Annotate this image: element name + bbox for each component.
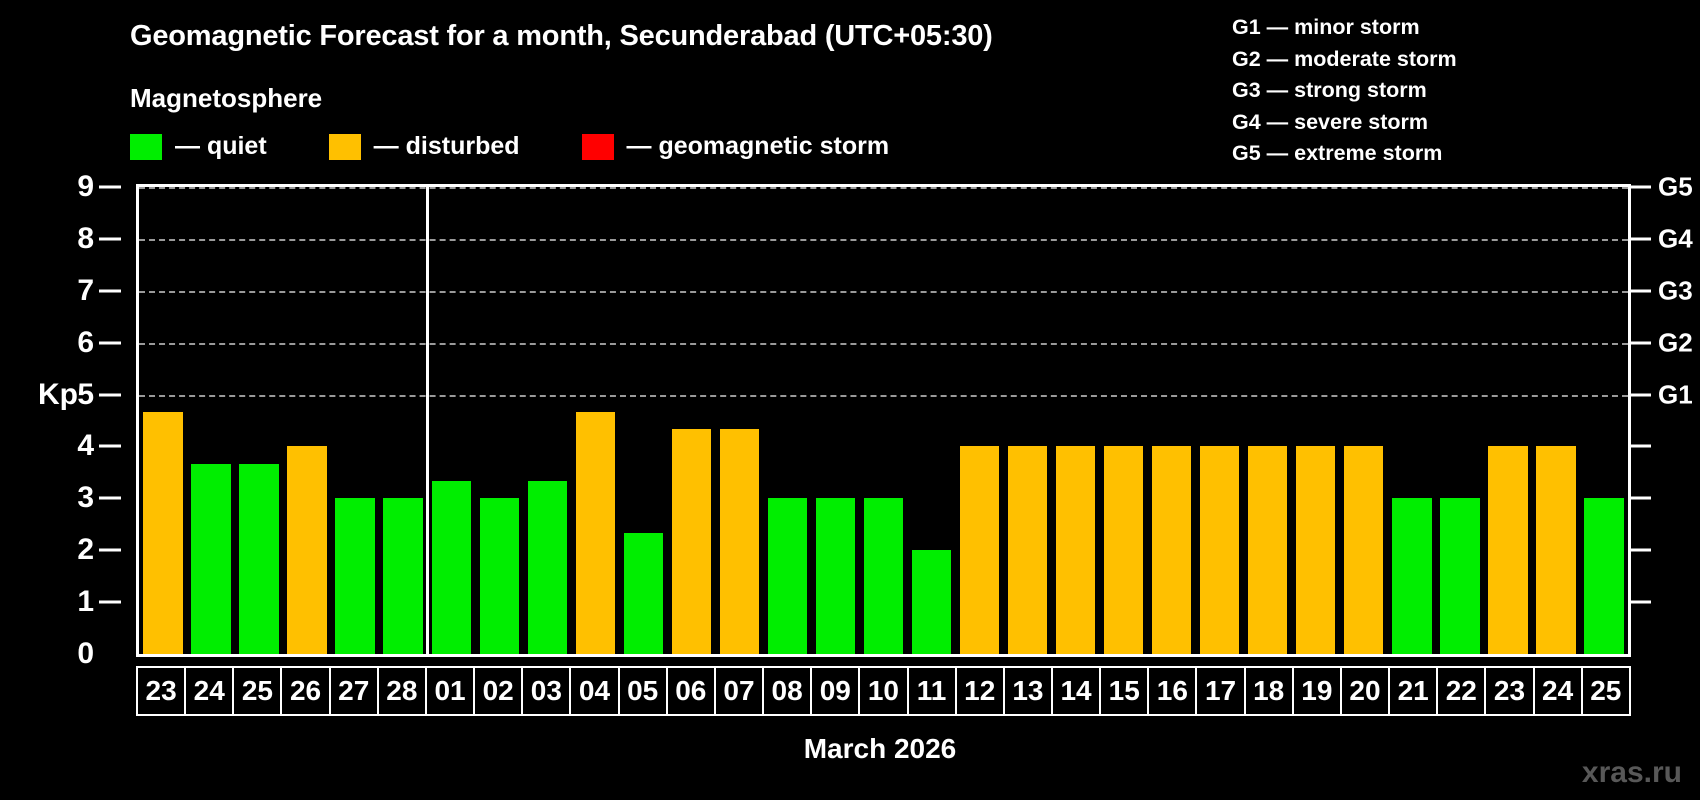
y-tick-mark-8 [99, 237, 121, 240]
date-cell[interactable]: 09 [812, 668, 860, 714]
bar-11[interactable] [912, 550, 951, 654]
y-tick-mark-2 [99, 549, 121, 552]
bar-slot [235, 187, 283, 654]
date-cell[interactable]: 26 [282, 668, 330, 714]
bar-slot [1436, 187, 1484, 654]
bar-23[interactable] [1488, 446, 1527, 654]
bar-24[interactable] [1536, 446, 1575, 654]
bar-slot [283, 187, 331, 654]
y-tick-label-6: 6 [77, 326, 94, 360]
bar-16[interactable] [1152, 446, 1191, 654]
legend-swatch-disturbed [329, 134, 361, 160]
bar-08[interactable] [768, 498, 807, 654]
y-tick-mark-3 [99, 497, 121, 500]
bar-slot [956, 187, 1004, 654]
y-tick-label-1: 1 [77, 585, 94, 619]
y-tick-label-9: 9 [77, 170, 94, 204]
bar-17[interactable] [1200, 446, 1239, 654]
bar-slot [1580, 187, 1628, 654]
y-tick-mark-5 [99, 393, 121, 396]
bar-27[interactable] [335, 498, 374, 654]
bar-06[interactable] [672, 429, 711, 654]
bar-slot [1292, 187, 1340, 654]
plot-area [136, 184, 1631, 657]
date-cell[interactable]: 23 [1486, 668, 1534, 714]
bars-layer [139, 187, 1628, 654]
bar-01[interactable] [432, 481, 471, 654]
g-tick-mark-G2 [1631, 341, 1651, 344]
bar-02[interactable] [480, 498, 519, 654]
g-tick-mark-G5 [1631, 186, 1651, 189]
g-minor-tick-kp-2 [1631, 549, 1651, 552]
y-axis: 0123456789 [0, 184, 130, 657]
date-cell[interactable]: 15 [1101, 668, 1149, 714]
y-tick-label-0: 0 [77, 637, 94, 671]
y-tick-label-7: 7 [77, 274, 94, 308]
bar-slot [331, 187, 379, 654]
g-tick-label-G2: G2 [1658, 327, 1693, 358]
bar-slot [1244, 187, 1292, 654]
date-cell[interactable]: 10 [860, 668, 908, 714]
legend-label-storm: — geomagnetic storm [627, 132, 890, 161]
bar-22[interactable] [1440, 498, 1479, 654]
bar-slot [859, 187, 907, 654]
bar-slot [427, 187, 475, 654]
date-cell[interactable]: 07 [716, 668, 764, 714]
bar-19[interactable] [1296, 446, 1335, 654]
date-cell[interactable]: 17 [1197, 668, 1245, 714]
date-axis: 2324252627280102030405060708091011121314… [136, 666, 1631, 716]
date-cell[interactable]: 14 [1053, 668, 1101, 714]
g-scale-axis: G1G2G3G4G5 [1634, 184, 1700, 657]
bar-28[interactable] [383, 498, 422, 654]
date-cell[interactable]: 24 [186, 668, 234, 714]
watermark: xras.ru [1582, 756, 1682, 790]
date-cell[interactable]: 24 [1535, 668, 1583, 714]
g-minor-tick-kp-1 [1631, 601, 1651, 604]
g-tick-mark-G4 [1631, 237, 1651, 240]
bar-25[interactable] [1584, 498, 1623, 654]
y-tick-label-4: 4 [77, 429, 94, 463]
g-scale-row-3: G3 — strong storm [1232, 75, 1457, 107]
bar-23[interactable] [143, 412, 182, 654]
g-scale-row-1: G1 — minor storm [1232, 12, 1457, 44]
g-scale-row-5: G5 — extreme storm [1232, 138, 1457, 170]
bar-slot [523, 187, 571, 654]
date-cell[interactable]: 13 [1005, 668, 1053, 714]
bar-slot [763, 187, 811, 654]
bar-13[interactable] [1008, 446, 1047, 654]
bar-10[interactable] [864, 498, 903, 654]
legend-entry-disturbed: — disturbed [329, 132, 582, 161]
g-scale-row-2: G2 — moderate storm [1232, 44, 1457, 76]
legend-swatch-storm [582, 134, 614, 160]
date-cell[interactable]: 06 [668, 668, 716, 714]
y-tick-mark-9 [99, 186, 121, 189]
date-cell[interactable]: 20 [1342, 668, 1390, 714]
month-label: March 2026 [0, 733, 1700, 765]
month-separator [426, 187, 429, 654]
bar-slot [1340, 187, 1388, 654]
date-cell[interactable]: 08 [764, 668, 812, 714]
date-cell[interactable]: 04 [571, 668, 619, 714]
bar-04[interactable] [576, 412, 615, 654]
bar-slot [1100, 187, 1148, 654]
date-cell[interactable]: 19 [1294, 668, 1342, 714]
g-minor-tick-kp-4 [1631, 445, 1651, 448]
date-cell[interactable]: 02 [475, 668, 523, 714]
date-cell[interactable]: 22 [1438, 668, 1486, 714]
g-minor-tick-kp-3 [1631, 497, 1651, 500]
legend-entry-storm: — geomagnetic storm [582, 132, 890, 161]
bar-03[interactable] [528, 481, 567, 654]
legend-swatch-quiet [130, 134, 162, 160]
bar-slot [1532, 187, 1580, 654]
bar-09[interactable] [816, 498, 855, 654]
g-tick-label-G3: G3 [1658, 275, 1693, 306]
date-cell[interactable]: 28 [379, 668, 427, 714]
bar-slot [715, 187, 763, 654]
bar-20[interactable] [1344, 446, 1383, 654]
bar-slot [667, 187, 715, 654]
g-tick-label-G5: G5 [1658, 172, 1693, 203]
y-tick-label-8: 8 [77, 222, 94, 256]
date-cell[interactable]: 27 [331, 668, 379, 714]
y-tick-label-2: 2 [77, 533, 94, 567]
bar-07[interactable] [720, 429, 759, 654]
date-cell[interactable]: 01 [427, 668, 475, 714]
g-scale-legend: G1 — minor stormG2 — moderate stormG3 — … [1232, 12, 1457, 170]
date-cell[interactable]: 21 [1390, 668, 1438, 714]
g-tick-mark-G3 [1631, 289, 1651, 292]
bar-slot [811, 187, 859, 654]
bar-12[interactable] [960, 446, 999, 654]
bar-14[interactable] [1056, 446, 1095, 654]
page-title: Geomagnetic Forecast for a month, Secund… [130, 20, 993, 53]
date-cell[interactable]: 05 [620, 668, 668, 714]
bar-18[interactable] [1248, 446, 1287, 654]
date-cell[interactable]: 18 [1246, 668, 1294, 714]
bar-slot [1196, 187, 1244, 654]
magnetosphere-legend: — quiet— disturbed— geomagnetic storm [130, 132, 889, 161]
date-cell[interactable]: 23 [138, 668, 186, 714]
bar-slot [1484, 187, 1532, 654]
y-tick-mark-1 [99, 601, 121, 604]
bar-slot [1052, 187, 1100, 654]
y-tick-mark-4 [99, 445, 121, 448]
bar-slot [1004, 187, 1052, 654]
bar-24[interactable] [191, 464, 230, 654]
legend-label-quiet: — quiet [175, 132, 267, 161]
bar-21[interactable] [1392, 498, 1431, 654]
legend-label-disturbed: — disturbed [374, 132, 520, 161]
magnetosphere-heading: Magnetosphere [130, 83, 322, 114]
g-tick-label-G1: G1 [1658, 379, 1693, 410]
date-cell[interactable]: 16 [1149, 668, 1197, 714]
bar-slot [571, 187, 619, 654]
bar-slot [187, 187, 235, 654]
bar-slot [139, 187, 187, 654]
bar-25[interactable] [239, 464, 278, 654]
bar-slot [1148, 187, 1196, 654]
legend-entry-quiet: — quiet [130, 132, 329, 161]
plot-inner [139, 187, 1628, 654]
bar-slot [908, 187, 956, 654]
y-tick-mark-6 [99, 341, 121, 344]
y-tick-label-3: 3 [77, 481, 94, 515]
y-tick-label-5: 5 [77, 378, 94, 412]
y-tick-mark-7 [99, 289, 121, 292]
g-scale-row-4: G4 — severe storm [1232, 107, 1457, 139]
bar-slot [619, 187, 667, 654]
date-cell[interactable]: 11 [909, 668, 957, 714]
bar-slot [379, 187, 427, 654]
bar-05[interactable] [624, 533, 663, 654]
bar-15[interactable] [1104, 446, 1143, 654]
date-cell[interactable]: 03 [523, 668, 571, 714]
date-cell[interactable]: 25 [234, 668, 282, 714]
date-cell[interactable]: 12 [957, 668, 1005, 714]
date-cell[interactable]: 25 [1583, 668, 1629, 714]
bar-slot [1388, 187, 1436, 654]
bar-26[interactable] [287, 446, 326, 654]
g-tick-label-G4: G4 [1658, 223, 1693, 254]
g-tick-mark-G1 [1631, 393, 1651, 396]
bar-slot [475, 187, 523, 654]
